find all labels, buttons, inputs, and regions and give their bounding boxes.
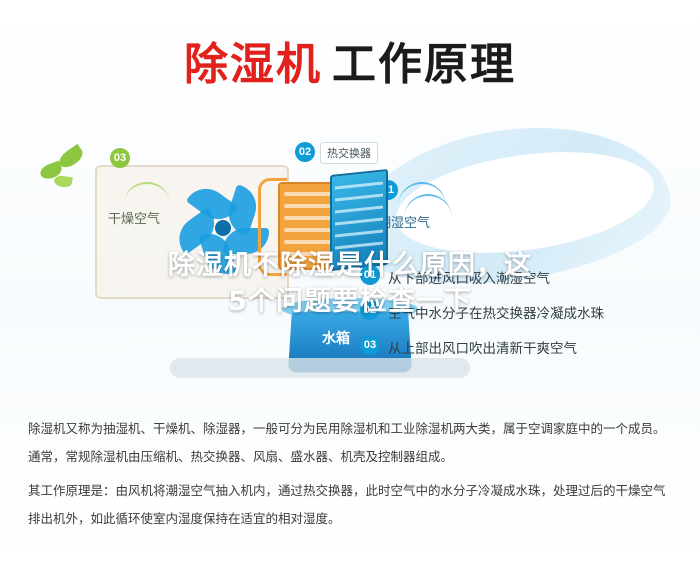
overlay-headline-line1: 除湿机不除湿是什么原因，这 bbox=[0, 248, 700, 284]
overlay-headline: 除湿机不除湿是什么原因，这 5个问题要检查一下 bbox=[0, 248, 700, 320]
poster-container: 除湿机工作原理 03 干燥空气 02 热交换器 01 潮湿空气 bbox=[0, 0, 700, 566]
badge-02-top: 02 bbox=[295, 142, 315, 162]
unit-base bbox=[170, 358, 470, 378]
title-red-text: 除湿机 bbox=[184, 39, 322, 90]
label-dry-air: 干燥空气 bbox=[108, 208, 160, 227]
page-title: 除湿机工作原理 bbox=[0, 28, 700, 92]
body-paragraph-1: 除湿机又称为抽湿机、干燥机、除湿器，一般可分为民用除湿机和工业除湿机两大类，属于… bbox=[28, 418, 676, 440]
body-paragraph-4: 排出机外，如此循环使室内湿度保持在适宜的相对湿度。 bbox=[28, 508, 676, 530]
body-copy: 除湿机又称为抽湿机、干燥机、除湿器，一般可分为民用除湿机和工业除湿机两大类，属于… bbox=[28, 418, 676, 536]
title-black-text: 工作原理 bbox=[332, 39, 516, 90]
step-03-text: 从上部出风口吹出清新干爽空气 bbox=[388, 337, 577, 357]
body-paragraph-3: 其工作原理是：由风机将潮湿空气抽入机内，通过热交换器，此时空气中的水分子冷凝成水… bbox=[28, 480, 676, 502]
badge-03-left: 03 bbox=[110, 148, 130, 168]
label-heat-exchanger: 热交换器 bbox=[320, 142, 378, 164]
badge-step-03: 03 bbox=[360, 335, 380, 355]
body-paragraph-2: 通常，常规除湿机由压缩机、热交换器、风扇、盛水器、机壳及控制器组成。 bbox=[28, 446, 676, 468]
water-tank-label: 水箱 bbox=[322, 328, 350, 348]
overlay-headline-line2: 5个问题要检查一下 bbox=[0, 284, 700, 320]
leaf-decoration bbox=[40, 150, 100, 190]
